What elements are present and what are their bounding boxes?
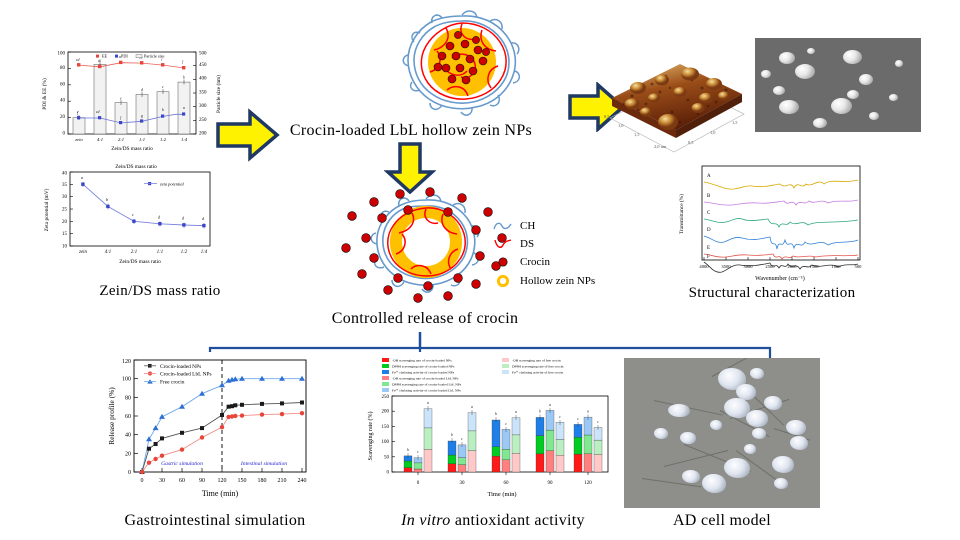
svg-text:1:4: 1:4 bbox=[201, 250, 208, 255]
tem-micrograph bbox=[755, 38, 921, 132]
caption-antioxidant-rest: antioxidant activity bbox=[455, 512, 585, 529]
svg-text:120: 120 bbox=[218, 478, 227, 484]
svg-text:90: 90 bbox=[199, 478, 205, 484]
svg-text:1:2: 1:2 bbox=[160, 137, 167, 142]
svg-text:1:1: 1:1 bbox=[157, 250, 163, 255]
svg-text:a: a bbox=[471, 405, 473, 409]
svg-text:1:4: 1:4 bbox=[181, 137, 188, 142]
svg-text:DPPH scavenging rate of crocin: DPPH scavenging rate of crocin-loaded Lb… bbox=[392, 383, 462, 387]
svg-text:0: 0 bbox=[387, 471, 390, 476]
schematic-legend: CH DS Crocin Hollow zein NPs bbox=[492, 220, 595, 294]
caption-structural-characterization: Structural characterization bbox=[672, 285, 872, 302]
svg-text:30: 30 bbox=[159, 478, 165, 484]
svg-text:15: 15 bbox=[62, 232, 68, 237]
svg-text:120: 120 bbox=[122, 359, 131, 365]
chart-release-profile: 02040 6080100 120 03060 90120150 1802102… bbox=[104, 352, 326, 512]
pdi-chart-xlabel: Zein/DS mass ratio bbox=[111, 146, 153, 152]
svg-text:b: b bbox=[162, 108, 164, 112]
svg-text:a: a bbox=[549, 403, 551, 407]
svg-text:1:1: 1:1 bbox=[139, 137, 145, 142]
svg-text:10: 10 bbox=[62, 245, 68, 250]
svg-text:200: 200 bbox=[382, 410, 390, 415]
svg-text:0,5: 0,5 bbox=[688, 140, 694, 146]
svg-text:80: 80 bbox=[125, 395, 131, 401]
legend-label-ds: DS bbox=[520, 238, 534, 250]
svg-text:cd: cd bbox=[76, 58, 80, 62]
svg-text:b: b bbox=[495, 412, 497, 416]
svg-text:Fe²⁺ chelating activity of fre: Fe²⁺ chelating activity of free crocin bbox=[512, 371, 563, 375]
svg-text:40: 40 bbox=[62, 172, 68, 177]
svg-text:·OH scavenging rate of free cr: ·OH scavenging rate of free crocin bbox=[512, 359, 561, 363]
svg-text:150: 150 bbox=[238, 478, 247, 484]
svg-text:·OH scavenging rate of crocin-: ·OH scavenging rate of crocin-loaded NPs bbox=[392, 359, 452, 363]
release-ylabel: Release profile (%) bbox=[107, 387, 116, 445]
svg-text:zeta potential: zeta potential bbox=[159, 181, 185, 186]
svg-text:a: a bbox=[587, 410, 589, 414]
svg-text:90: 90 bbox=[548, 481, 554, 486]
svg-text:1,0: 1,0 bbox=[618, 123, 624, 129]
svg-text:d: d bbox=[141, 88, 143, 92]
afm-3d-surface: 0,51,01,5 2,0 um 0,51,01,5 bbox=[602, 26, 754, 166]
svg-text:2500: 2500 bbox=[765, 264, 775, 269]
svg-text:4:1: 4:1 bbox=[97, 137, 103, 142]
title-crocin-loaded-lbl-np: Crocin-loaded LbL hollow zein NPs bbox=[276, 122, 546, 140]
svg-text:150: 150 bbox=[382, 425, 390, 430]
zeta-chart-title: Zein/DS mass ratio bbox=[115, 164, 157, 170]
svg-text:4000: 4000 bbox=[699, 264, 709, 269]
svg-text:20: 20 bbox=[60, 115, 66, 120]
legend-item-crocin: Crocin bbox=[492, 256, 595, 268]
chart-pdi-ee-size: 0 20 40 60 80 100 200250 300350 400450 5… bbox=[36, 44, 228, 156]
svg-text:400: 400 bbox=[199, 77, 207, 82]
svg-text:a: a bbox=[427, 401, 429, 405]
svg-text:1:2: 1:2 bbox=[181, 250, 188, 255]
ftir-svg: ABC DEF 400035003000 250020001500 100050… bbox=[672, 158, 872, 286]
svg-text:250: 250 bbox=[199, 118, 207, 123]
legend-label-crocin: Crocin bbox=[520, 256, 550, 268]
legend-item-ch: CH bbox=[492, 220, 595, 232]
svg-text:40: 40 bbox=[60, 99, 66, 104]
svg-text:·OH scavenging rate of crocin-: ·OH scavenging rate of crocin-loaded LbL… bbox=[392, 377, 459, 381]
svg-text:40: 40 bbox=[125, 433, 131, 439]
svg-text:a: a bbox=[99, 59, 101, 63]
ftir-xlabel: Wavenumber (cm⁻¹) bbox=[755, 275, 805, 282]
svg-text:25: 25 bbox=[62, 208, 68, 213]
red-dot-icon bbox=[492, 256, 514, 268]
svg-text:20: 20 bbox=[125, 451, 131, 457]
svg-text:350: 350 bbox=[199, 90, 207, 95]
svg-text:b: b bbox=[539, 410, 541, 414]
legend-label-hollow-zein: Hollow zein NPs bbox=[520, 275, 595, 287]
svg-text:60: 60 bbox=[179, 478, 185, 484]
svg-text:2000: 2000 bbox=[787, 264, 797, 269]
legend-label-ch: CH bbox=[520, 220, 535, 232]
svg-text:0,5: 0,5 bbox=[604, 114, 610, 120]
blue-squiggle-icon bbox=[492, 220, 514, 232]
ftir-ylabel: Transmittance (%) bbox=[678, 194, 685, 234]
svg-text:Particle size: Particle size bbox=[144, 54, 164, 59]
yellow-ring-icon bbox=[492, 274, 514, 288]
arrow-right-1 bbox=[216, 108, 280, 162]
zeta-chart-ylabel: Zeta potential (mV) bbox=[43, 188, 50, 231]
annotation-intestinal: Intestinal simulation bbox=[240, 461, 287, 467]
svg-text:DPPH scavenging rate of free c: DPPH scavenging rate of free crocin bbox=[512, 365, 564, 369]
svg-text:cd: cd bbox=[96, 110, 100, 114]
svg-text:30: 30 bbox=[62, 195, 68, 200]
svg-text:3500: 3500 bbox=[721, 264, 731, 269]
legend-item-hollow-zein: Hollow zein NPs bbox=[492, 274, 595, 288]
schematic-lbl-loaded-np bbox=[372, 6, 552, 126]
svg-text:0: 0 bbox=[128, 470, 131, 476]
svg-text:500: 500 bbox=[855, 264, 863, 269]
svg-text:210: 210 bbox=[278, 478, 287, 484]
svg-text:200: 200 bbox=[199, 132, 207, 137]
antiox-xlabel: Time (min) bbox=[487, 491, 516, 498]
svg-text:100: 100 bbox=[122, 377, 131, 383]
svg-text:1,5: 1,5 bbox=[634, 132, 640, 138]
svg-text:a: a bbox=[81, 175, 83, 180]
svg-text:F: F bbox=[707, 255, 710, 260]
release-xlabel: Time (min) bbox=[202, 489, 239, 498]
ad-cell-microscopy bbox=[624, 358, 820, 508]
svg-text:500: 500 bbox=[199, 52, 207, 57]
caption-antioxidant-activity: In vitro antioxidant activity bbox=[378, 512, 608, 530]
svg-text:Fe²⁺ chelating activity of cro: Fe²⁺ chelating activity of crocin-loaded… bbox=[392, 389, 461, 393]
svg-text:450: 450 bbox=[199, 63, 207, 68]
svg-text:60: 60 bbox=[60, 82, 66, 87]
caption-antioxidant-italic: In vitro bbox=[401, 512, 450, 529]
svg-text:4:1: 4:1 bbox=[105, 250, 111, 255]
antiox-svg: ·OH scavenging rate of crocin-loaded NPs… bbox=[362, 352, 618, 512]
svg-text:a: a bbox=[515, 410, 517, 414]
zeta-svg: Zein/DS mass ratio 10 15 20 25 30 35 40 bbox=[36, 158, 228, 270]
svg-text:zein: zein bbox=[74, 137, 83, 142]
chart-zeta-potential: Zein/DS mass ratio 10 15 20 25 30 35 40 bbox=[36, 158, 228, 270]
svg-text:c: c bbox=[132, 212, 134, 217]
svg-text:g: g bbox=[141, 114, 143, 118]
svg-text:300: 300 bbox=[199, 104, 207, 109]
pdi-ee-size-svg: 0 20 40 60 80 100 200250 300350 400450 5… bbox=[36, 44, 228, 156]
svg-text:250: 250 bbox=[382, 395, 390, 400]
svg-text:120: 120 bbox=[584, 481, 592, 486]
svg-text:50: 50 bbox=[384, 455, 390, 460]
svg-text:DPPH scavenging rate of crocin: DPPH scavenging rate of crocin-loaded NP… bbox=[392, 365, 455, 369]
svg-text:b: b bbox=[183, 76, 185, 80]
svg-text:PDI: PDI bbox=[121, 54, 128, 59]
svg-text:2,0 um: 2,0 um bbox=[654, 144, 667, 150]
svg-text:3000: 3000 bbox=[743, 264, 753, 269]
svg-text:1,0: 1,0 bbox=[710, 130, 716, 136]
svg-text:0: 0 bbox=[417, 481, 420, 486]
svg-text:60: 60 bbox=[125, 414, 131, 420]
svg-text:0: 0 bbox=[141, 478, 144, 484]
release-svg: 02040 6080100 120 03060 90120150 1802102… bbox=[104, 352, 326, 512]
svg-text:1,5: 1,5 bbox=[732, 120, 738, 126]
caption-gastrointestinal-simulation: Gastrointestinal simulation bbox=[110, 512, 320, 530]
svg-text:0: 0 bbox=[63, 132, 66, 137]
svg-text:240: 240 bbox=[298, 478, 307, 484]
caption-ad-cell-model: AD cell model bbox=[624, 512, 820, 530]
annotation-gastric: Gastric simulation bbox=[161, 461, 203, 467]
svg-text:100: 100 bbox=[58, 52, 66, 57]
svg-text:60: 60 bbox=[504, 481, 510, 486]
svg-text:1500: 1500 bbox=[809, 264, 819, 269]
chart-ftir: ABC DEF 400035003000 250020001500 100050… bbox=[672, 158, 872, 286]
svg-text:Fe²⁺ chelating activity of cro: Fe²⁺ chelating activity of crocin-loaded… bbox=[392, 371, 455, 375]
legend-item-ds: DS bbox=[492, 238, 595, 250]
zeta-chart-xlabel: Zein/DS mass ratio bbox=[119, 259, 161, 265]
svg-text:b: b bbox=[407, 448, 409, 452]
svg-text:35: 35 bbox=[62, 183, 68, 188]
svg-text:Free crocin: Free crocin bbox=[160, 380, 185, 386]
pdi-chart-ylabel: PDI & EE (%) bbox=[41, 78, 48, 110]
svg-text:2:1: 2:1 bbox=[118, 137, 124, 142]
schematic-release-np bbox=[336, 186, 516, 304]
svg-text:2:1: 2:1 bbox=[131, 250, 137, 255]
caption-zein-ds-ratio: Zein/DS mass ratio bbox=[60, 283, 260, 300]
svg-text:100: 100 bbox=[382, 440, 390, 445]
red-squiggle-icon bbox=[492, 238, 514, 250]
svg-text:EE: EE bbox=[102, 54, 108, 59]
svg-text:Crocin-loaded NPs: Crocin-loaded NPs bbox=[160, 364, 201, 370]
svg-text:D: D bbox=[707, 228, 711, 233]
chart-antioxidant: ·OH scavenging rate of crocin-loaded NPs… bbox=[362, 352, 618, 512]
antiox-ylabel: Scavenging rate (%) bbox=[367, 412, 374, 461]
svg-text:b: b bbox=[106, 197, 108, 202]
svg-text:20: 20 bbox=[62, 220, 68, 225]
svg-text:180: 180 bbox=[258, 478, 267, 484]
svg-text:a: a bbox=[183, 106, 185, 110]
svg-text:E: E bbox=[707, 246, 710, 251]
svg-text:1000: 1000 bbox=[831, 264, 841, 269]
svg-text:A: A bbox=[707, 174, 711, 179]
svg-text:80: 80 bbox=[60, 66, 66, 71]
svg-text:30: 30 bbox=[460, 481, 466, 486]
svg-text:zein: zein bbox=[78, 250, 87, 255]
svg-text:b: b bbox=[451, 433, 453, 437]
svg-text:Crocin-loaded LbL NPs: Crocin-loaded LbL NPs bbox=[160, 372, 212, 378]
